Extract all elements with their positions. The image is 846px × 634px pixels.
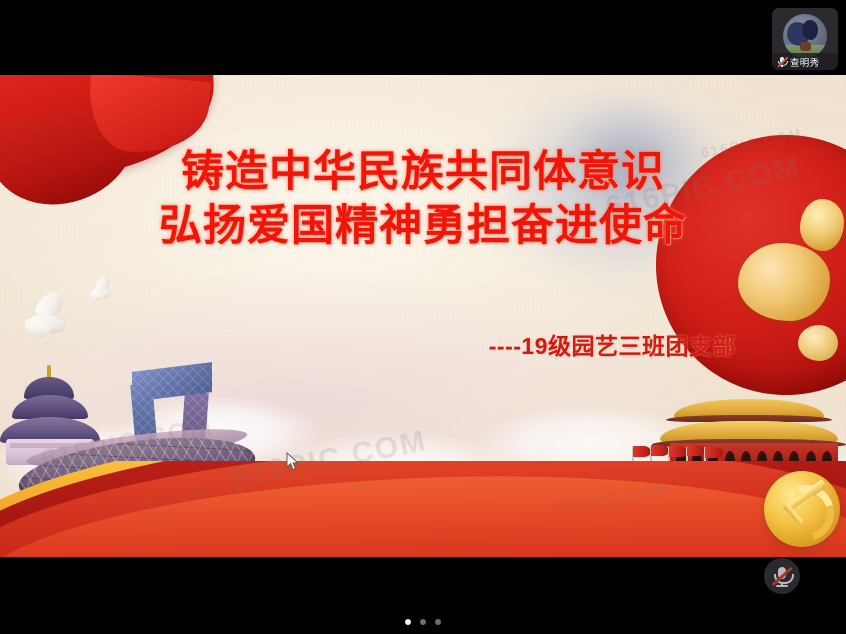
page-dot-1[interactable] [405,619,411,625]
page-dot-3[interactable] [435,619,441,625]
self-view-tile[interactable]: 查明秀 [772,8,838,70]
slide-title-line-1: 铸造中华民族共同体意识 [0,145,846,199]
microphone-muted-icon [777,56,787,67]
slide-title-line-2: 弘扬爱国精神勇担奋进使命 [0,199,846,253]
party-emblem-icon [764,471,840,547]
microphone-mute-button[interactable] [764,558,800,594]
screen-root: 中华人民共和国万岁 世界人民大团结万岁 616PIC.COM 616PIC.CO… [0,0,846,634]
slide-title-block: 铸造中华民族共同体意识 弘扬爱国精神勇担奋进使命 [0,145,846,253]
participant-name-bar: 查明秀 [772,53,838,70]
golden-cloud-ornament [738,243,830,321]
participant-name: 查明秀 [790,55,819,69]
page-indicator[interactable] [0,619,846,625]
slide-subtitle: ----19级园艺三班团支部 [0,327,846,361]
shared-slide[interactable]: 中华人民共和国万岁 世界人民大团结万岁 616PIC.COM 616PIC.CO… [0,75,846,557]
page-dot-2[interactable] [420,619,426,625]
user-avatar [783,14,827,58]
